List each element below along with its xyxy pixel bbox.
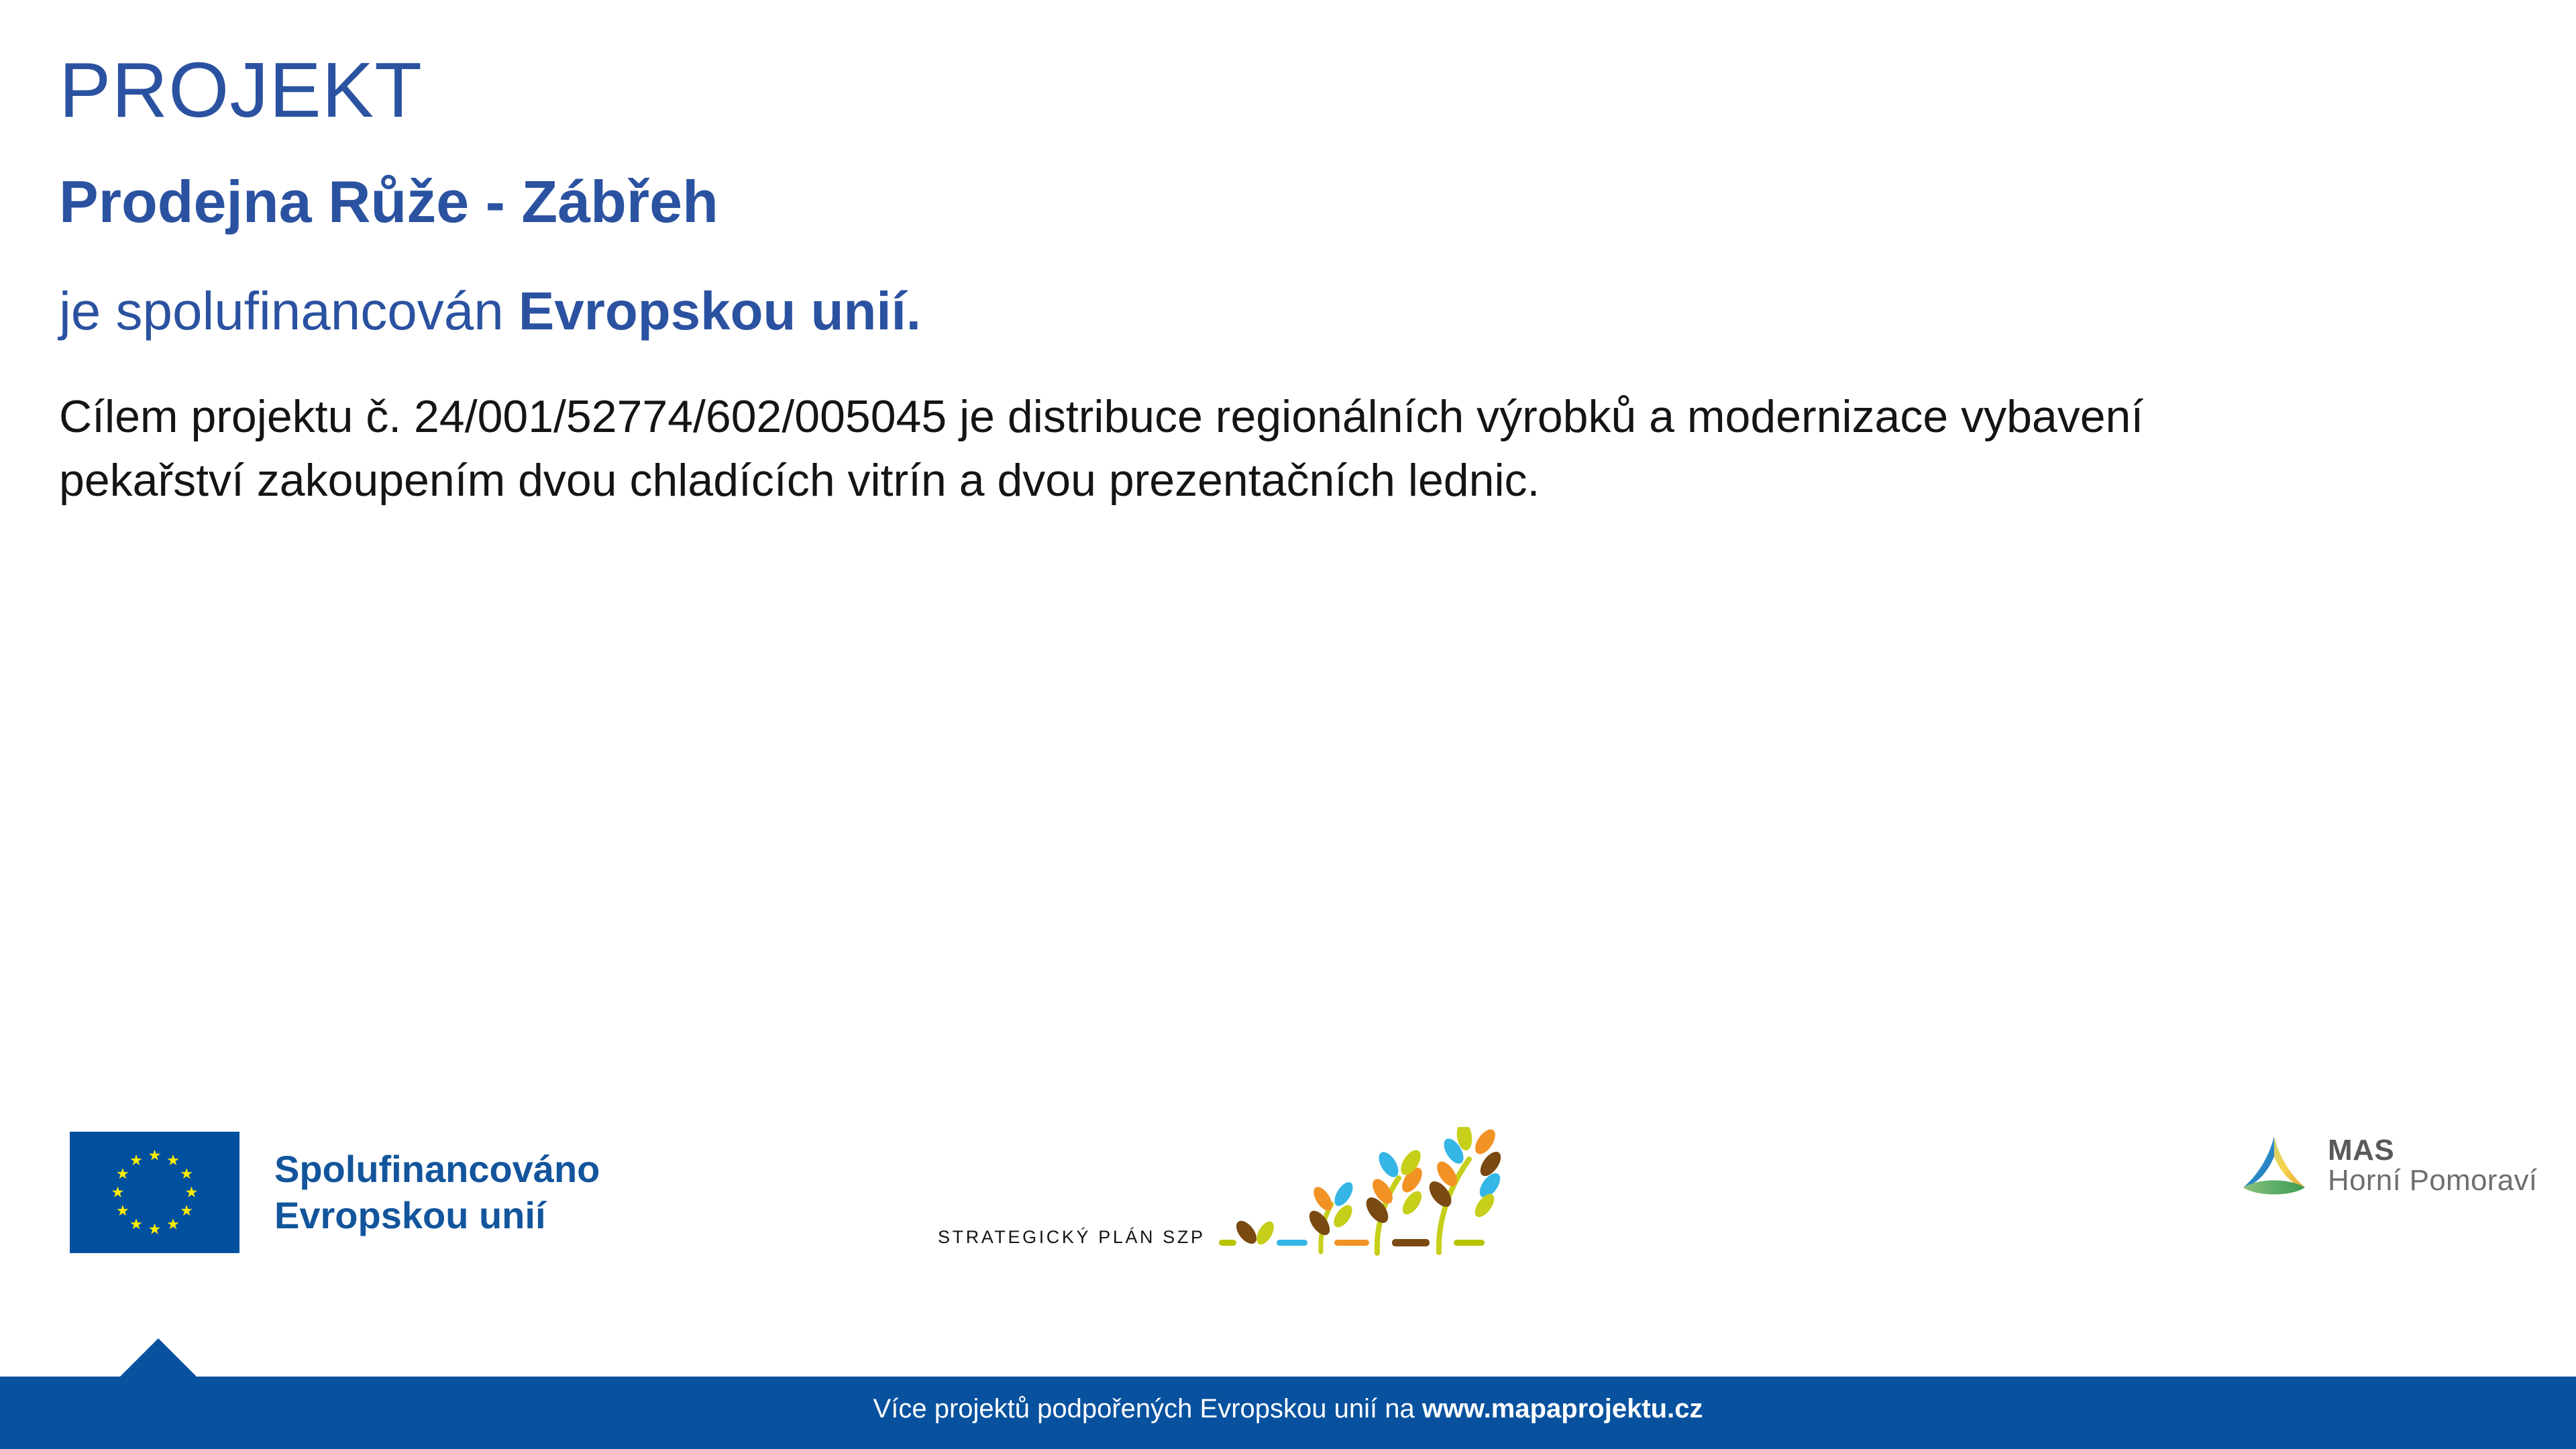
cofinanced-prefix: je spolufinancován	[59, 281, 519, 341]
footer-prefix: Více projektů podpořených Evropskou unií…	[873, 1394, 1422, 1424]
cofinanced-line: je spolufinancován Evropskou unií.	[59, 279, 2407, 343]
project-description: Cílem projektu č. 24/001/52774/602/00504…	[59, 385, 2340, 513]
eu-logo-line1: Spolufinancováno	[274, 1146, 600, 1192]
mas-logo-line2: Horní Pomoraví	[2328, 1166, 2537, 1196]
szp-wheat-icon	[1219, 1127, 1501, 1268]
slide-content: PROJEKT Prodejna Růže - Zábřeh je spoluf…	[59, 47, 2407, 513]
logo-strip: Spolufinancováno Evropskou unií STRATEGI…	[0, 1114, 2576, 1288]
eu-flag-icon	[70, 1132, 239, 1253]
footer-peak-marker	[119, 1338, 197, 1377]
cofinanced-emphasis: Evropskou unií.	[519, 281, 921, 341]
szp-logo-label: STRATEGICKÝ PLÁN SZP	[938, 1227, 1205, 1268]
eu-cofunding-logo: Spolufinancováno Evropskou unií	[70, 1132, 600, 1253]
footer-text: Více projektů podpořených Evropskou unií…	[0, 1394, 2576, 1424]
mas-logo-line1: MAS	[2328, 1136, 2537, 1166]
mas-logo-text: MAS Horní Pomoraví	[2328, 1136, 2537, 1196]
mas-logo: MAS Horní Pomoraví	[2234, 1126, 2537, 1206]
footer-url-link[interactable]: www.mapaprojektu.cz	[1422, 1394, 1703, 1424]
mas-triangle-icon	[2234, 1126, 2314, 1206]
page-title: PROJEKT	[59, 47, 2407, 134]
eu-logo-text: Spolufinancováno Evropskou unií	[274, 1146, 600, 1238]
eu-logo-line2: Evropskou unií	[274, 1193, 600, 1238]
project-name-heading: Prodejna Růže - Zábřeh	[59, 166, 2407, 237]
szp-logo: STRATEGICKÝ PLÁN SZP	[938, 1120, 1501, 1268]
